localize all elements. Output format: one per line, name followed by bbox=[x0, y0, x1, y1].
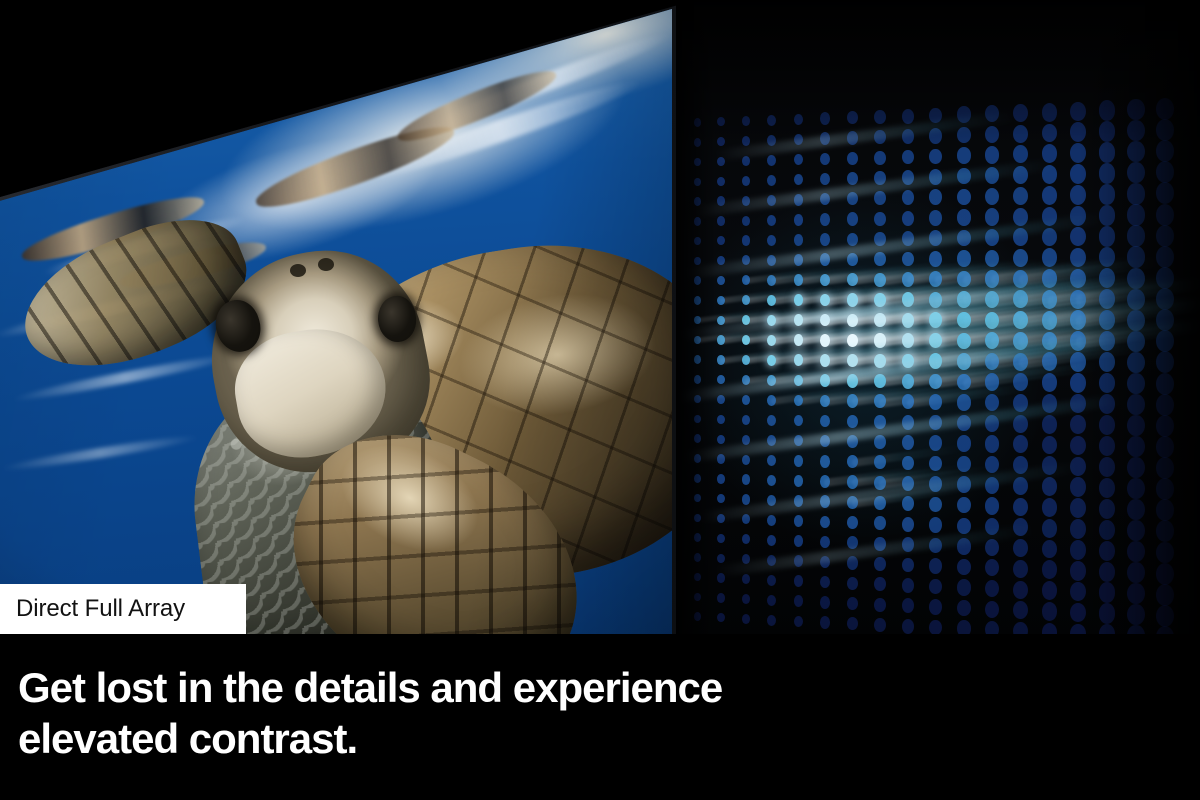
led-dot bbox=[929, 599, 942, 615]
led-dot bbox=[847, 172, 858, 185]
led-dot bbox=[929, 517, 942, 533]
led-dot bbox=[717, 494, 725, 503]
led-dot bbox=[957, 559, 970, 575]
led-dot bbox=[742, 594, 750, 604]
led-dot bbox=[902, 190, 914, 205]
led-dot bbox=[874, 557, 886, 571]
led-dot bbox=[742, 415, 750, 425]
led-dot bbox=[794, 214, 804, 226]
led-dot bbox=[985, 435, 999, 452]
led-dot bbox=[1042, 602, 1057, 621]
led-dot bbox=[794, 515, 804, 527]
direct-full-array-badge: Direct Full Array bbox=[0, 584, 246, 634]
led-dot bbox=[1042, 498, 1057, 517]
led-dot bbox=[874, 252, 886, 266]
screen-shading bbox=[0, 0, 684, 636]
led-dot bbox=[847, 394, 858, 407]
led-dot bbox=[902, 394, 914, 409]
led-dot bbox=[1013, 560, 1028, 578]
led-dot bbox=[874, 151, 886, 165]
led-dot bbox=[847, 233, 858, 246]
led-dot bbox=[742, 355, 750, 365]
led-dot bbox=[985, 601, 999, 618]
led-dot bbox=[957, 209, 970, 225]
led-dot bbox=[1042, 415, 1057, 434]
led-dot bbox=[957, 497, 970, 513]
led-dot bbox=[717, 474, 725, 483]
led-dot bbox=[717, 276, 725, 285]
led-dot bbox=[847, 415, 858, 428]
led-dot bbox=[794, 475, 804, 487]
led-dot bbox=[902, 598, 914, 613]
led-dot bbox=[1013, 187, 1028, 205]
led-dot bbox=[1013, 581, 1028, 599]
led-dot bbox=[929, 210, 942, 226]
led-dot bbox=[742, 474, 750, 484]
led-dot bbox=[985, 497, 999, 514]
led-dot bbox=[717, 593, 725, 602]
led-dot bbox=[717, 296, 725, 305]
led-dot bbox=[717, 435, 725, 444]
led-dot bbox=[847, 475, 858, 488]
led-dot bbox=[1042, 581, 1057, 600]
led-dot bbox=[847, 152, 858, 165]
headline: Get lost in the details and experience e… bbox=[18, 662, 918, 764]
led-dot bbox=[957, 579, 970, 595]
led-dot bbox=[717, 554, 725, 563]
tv-panel bbox=[0, 0, 684, 636]
led-dot bbox=[902, 558, 914, 573]
led-dot bbox=[957, 394, 970, 410]
led-dot bbox=[957, 518, 970, 534]
led-dot bbox=[742, 216, 750, 226]
led-dot bbox=[957, 189, 970, 205]
headline-line-2: elevated contrast. bbox=[18, 713, 918, 764]
led-dot bbox=[902, 496, 914, 511]
led-dot bbox=[1042, 186, 1057, 205]
led-dot bbox=[717, 216, 725, 225]
promo-banner: Direct Full Array Get lost in the detail… bbox=[0, 0, 1200, 800]
headline-line-1: Get lost in the details and experience bbox=[18, 662, 918, 713]
led-dot bbox=[717, 613, 725, 622]
led-dot bbox=[794, 535, 804, 547]
led-dot bbox=[847, 577, 858, 590]
led-dot bbox=[1013, 498, 1028, 516]
led-dot bbox=[1042, 477, 1057, 496]
led-dot bbox=[717, 355, 725, 364]
led-dot bbox=[985, 208, 999, 225]
led-dot bbox=[902, 150, 914, 165]
led-dot bbox=[794, 294, 804, 306]
led-dot bbox=[874, 212, 886, 226]
led-dot bbox=[742, 176, 750, 186]
led-dot bbox=[742, 235, 750, 245]
led-dot bbox=[874, 618, 886, 632]
led-dot bbox=[717, 177, 725, 186]
led-dot bbox=[794, 455, 804, 467]
led-backlight-array bbox=[676, 0, 1200, 648]
led-dot bbox=[929, 558, 942, 574]
led-dot bbox=[717, 335, 725, 344]
led-dot bbox=[742, 614, 750, 624]
led-dot bbox=[902, 517, 914, 532]
led-dot bbox=[742, 494, 750, 504]
led-dot bbox=[847, 212, 858, 225]
led-dot bbox=[1042, 560, 1057, 579]
badge-label: Direct Full Array bbox=[16, 597, 185, 621]
tv-screen bbox=[0, 0, 684, 636]
led-dot bbox=[902, 578, 914, 593]
led-dot bbox=[794, 274, 804, 286]
led-dot bbox=[902, 211, 914, 226]
led-dot bbox=[717, 236, 725, 245]
led-dot bbox=[717, 375, 725, 384]
led-dot bbox=[1042, 373, 1057, 392]
led-dot bbox=[902, 619, 914, 634]
led-dot bbox=[957, 600, 970, 616]
led-dot bbox=[820, 455, 830, 467]
led-dot bbox=[794, 234, 804, 246]
led-dot bbox=[717, 534, 725, 543]
led-dot bbox=[717, 415, 725, 424]
led-dot bbox=[1042, 519, 1057, 538]
led-dot bbox=[874, 598, 886, 612]
array-left-shading bbox=[676, 0, 716, 648]
led-dot bbox=[742, 395, 750, 405]
array-right-shading bbox=[1080, 0, 1200, 648]
led-dot bbox=[902, 435, 914, 450]
led-dot bbox=[742, 455, 750, 465]
